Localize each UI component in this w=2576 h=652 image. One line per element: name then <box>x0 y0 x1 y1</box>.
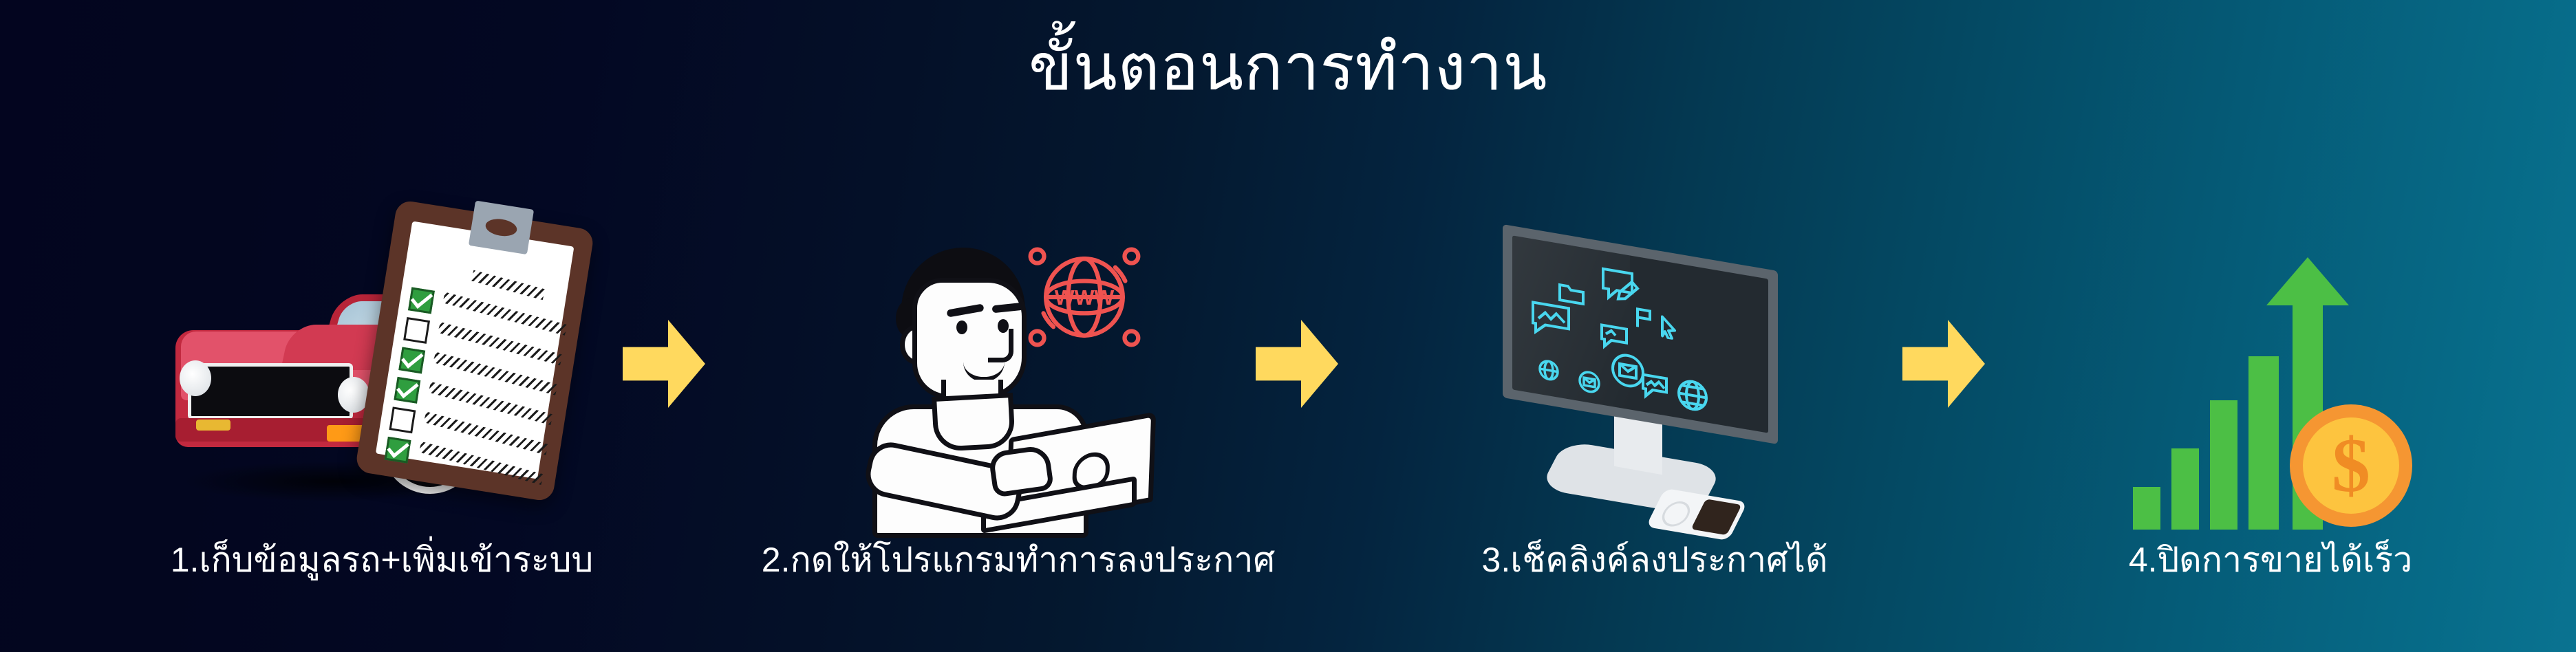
step-4: $ <box>2085 206 2511 564</box>
chat-image-small-icon <box>1640 371 1671 404</box>
growth-chart-icon: $ <box>2133 241 2422 530</box>
step-2: WWW <box>819 206 1245 564</box>
shirt-collar <box>932 393 1016 452</box>
dollar-coin-icon: $ <box>2290 404 2412 527</box>
cursor-arrow-icon <box>1658 314 1679 340</box>
chart-bar <box>2248 356 2279 530</box>
chat-image-bubble-icon <box>1530 298 1571 340</box>
step-1 <box>169 206 595 564</box>
infographic-canvas: ขั้นตอนการทำงาน <box>0 0 2576 652</box>
media-device-icon <box>1646 488 1748 541</box>
globe-icon <box>1675 375 1710 417</box>
clipboard-clip <box>469 200 534 254</box>
checkbox-checked[interactable] <box>398 347 425 373</box>
monitor-bezel <box>1503 224 1778 444</box>
step-1-illustration <box>169 206 595 530</box>
hand <box>988 444 1054 498</box>
checklist <box>384 257 575 488</box>
arrow-step-3-to-4-icon <box>1902 320 1985 408</box>
folder-icon <box>1558 279 1585 307</box>
clipboard-icon <box>354 199 594 502</box>
page-title: ขั้นตอนการทำงาน <box>0 32 2576 102</box>
checkbox-checked[interactable] <box>394 377 420 404</box>
step-3-caption: 3.เช็คลิงค์ลงประกาศได้ <box>1393 541 1916 580</box>
chart-bar <box>2210 400 2237 530</box>
www-globe-icon: WWW <box>1022 235 1146 359</box>
dollar-sign-label: $ <box>2303 427 2399 504</box>
step-4-caption: 4.ปิดการขายได้เร็ว <box>2009 541 2532 580</box>
chart-bar <box>2171 448 2199 530</box>
step-2-illustration: WWW <box>819 206 1245 530</box>
coin-face: $ <box>2303 417 2399 514</box>
flag-icon <box>1633 305 1654 332</box>
step-3-illustration <box>1466 206 1892 530</box>
checkbox-unchecked[interactable] <box>389 406 416 433</box>
eye-left <box>956 320 967 334</box>
step-4-illustration: $ <box>2085 206 2511 530</box>
checkbox-checked[interactable] <box>385 437 411 464</box>
car-grille <box>188 363 353 420</box>
car-marker-light <box>196 420 230 431</box>
checkbox-unchecked[interactable] <box>403 317 430 344</box>
globe-small-icon <box>1537 357 1560 384</box>
nose <box>988 329 1013 362</box>
car-headlight-left <box>180 360 211 396</box>
step-3 <box>1466 206 1892 564</box>
step-2-caption: 2.กดให้โปรแกรมทำการลงประกาศ <box>757 541 1280 580</box>
checkbox-checked[interactable] <box>408 287 435 314</box>
arrow-step-1-to-2-icon <box>623 320 705 408</box>
chart-bar <box>2133 487 2160 530</box>
envelope-small-circle-icon <box>1577 367 1602 396</box>
step-1-caption: 1.เก็บข้อมูลรถ+เพิ่มเข้าระบบ <box>120 541 643 580</box>
desktop-monitor-icon <box>1493 248 1816 523</box>
monitor-screen <box>1512 235 1768 433</box>
arrow-step-2-to-3-icon <box>1256 320 1338 408</box>
globe-www-label: WWW <box>1055 286 1115 309</box>
